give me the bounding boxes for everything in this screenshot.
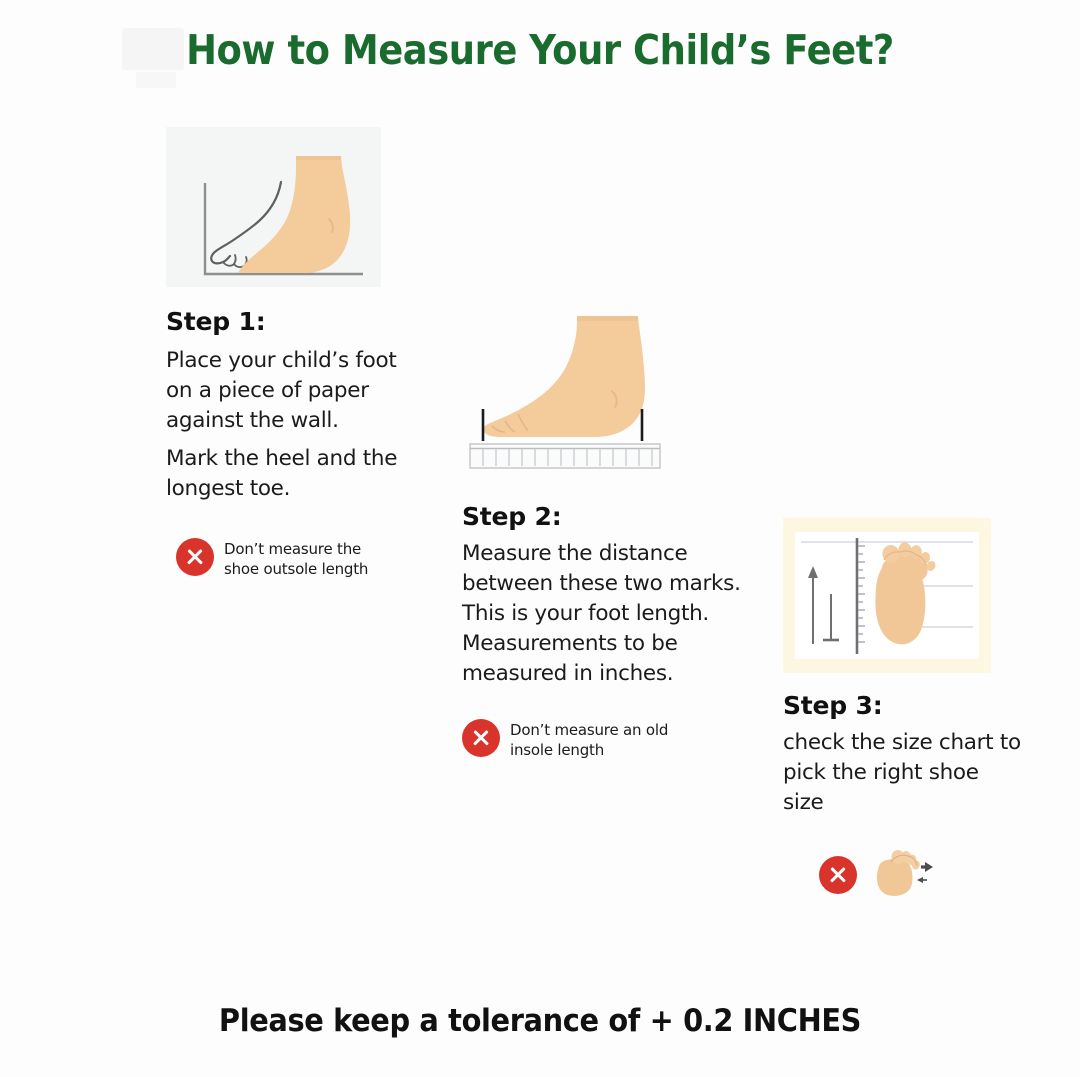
step-1-body: Place your child’s foot on a piece of pa…: [166, 346, 426, 504]
step-2-body: Measure the distance between these two m…: [462, 539, 782, 689]
step-1-line-2: Mark the heel and the longest toe.: [166, 444, 426, 504]
step-2-warning-text: Don’t measure an old insole length: [510, 719, 692, 760]
step-1-heading: Step 1:: [166, 307, 426, 336]
footprint-width-arrows-icon: [871, 846, 933, 904]
footprint-on-chart-svg: [795, 532, 979, 659]
step-2-warning: Don’t measure an old insole length: [462, 719, 692, 760]
step-2-line-1: Measure the distance between these two m…: [462, 539, 782, 689]
red-x-circle-icon: [819, 856, 857, 894]
step-3-illustration: [783, 518, 991, 673]
step-3-line-1: check the size chart to pick the right s…: [783, 728, 1023, 818]
step-3-warning: [819, 846, 1023, 904]
step-1-block: Step 1: Place your child’s foot on a pie…: [166, 127, 426, 579]
tolerance-note: Please keep a tolerance of + 0.2 INCHES: [38, 1003, 1042, 1039]
foot-against-wall-svg: [166, 127, 381, 287]
step-1-warning: Don’t measure the shoe outsole length: [176, 538, 376, 579]
red-x-circle-icon: [462, 719, 500, 757]
background-artifact-lower: [136, 72, 176, 88]
page-title: How to Measure Your Child’s Feet?: [54, 26, 1026, 74]
step-3-body: check the size chart to pick the right s…: [783, 728, 1023, 818]
step-2-heading: Step 2:: [462, 502, 782, 531]
step-3-block: Step 3: check the size chart to pick the…: [783, 518, 1023, 904]
step-2-block: Step 2: Measure the distance between the…: [462, 296, 782, 760]
step-3-heading: Step 3:: [783, 691, 1023, 720]
step-1-illustration: [166, 127, 381, 287]
infographic-canvas: How to Measure Your Child’s Feet? Step 1…: [0, 0, 1080, 1077]
step-2-illustration: [464, 296, 676, 482]
step-1-line-1: Place your child’s foot on a piece of pa…: [166, 346, 426, 436]
step-1-warning-text: Don’t measure the shoe outsole length: [224, 538, 376, 579]
size-chart-sheet: [795, 532, 979, 659]
red-x-circle-icon: [176, 538, 214, 576]
foot-with-ruler-svg: [464, 296, 676, 482]
